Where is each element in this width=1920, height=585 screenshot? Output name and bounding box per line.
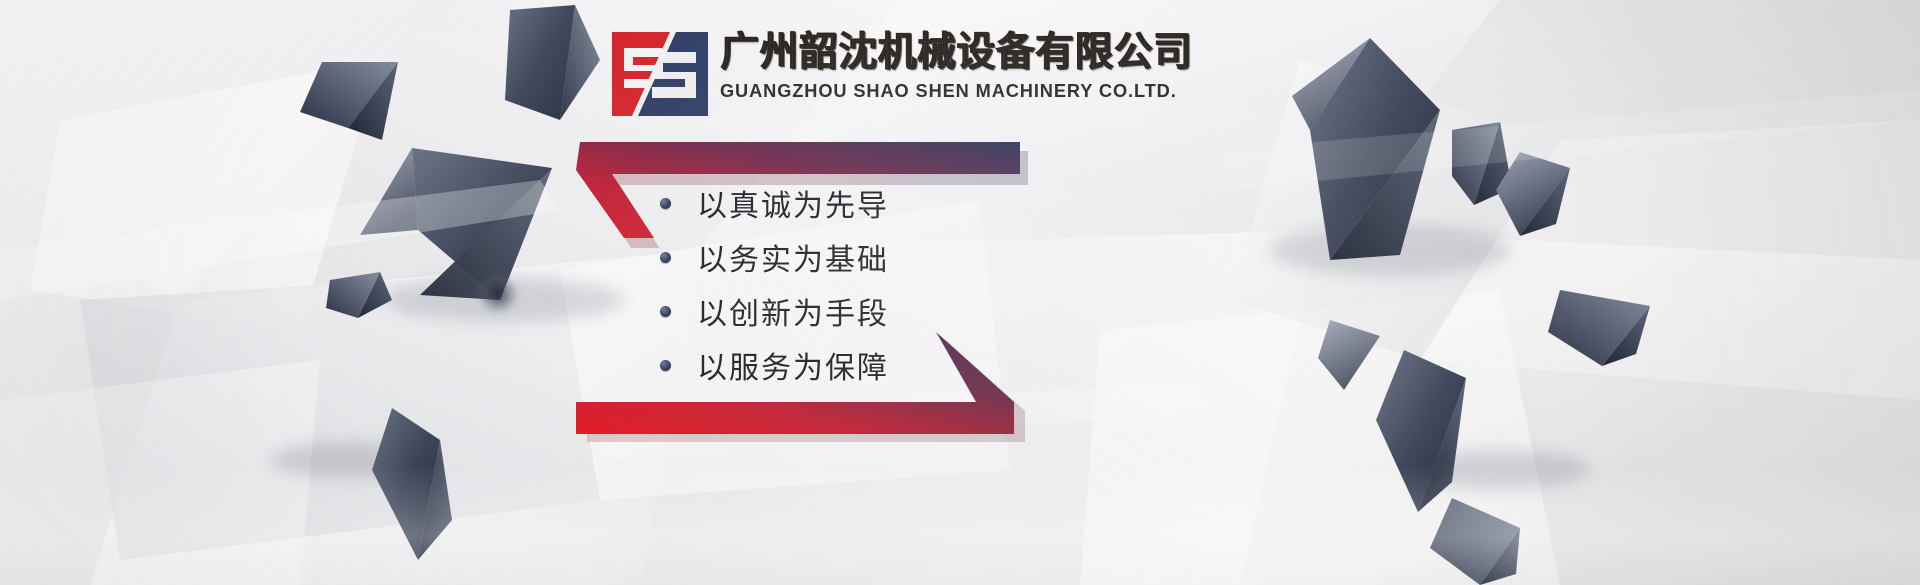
shao-shen-double-s-logo-icon [612, 32, 708, 116]
list-item: 以创新为手段 [660, 284, 990, 338]
bullet-icon [660, 306, 671, 317]
company-name-english: GUANGZHOU SHAO SHEN MACHINERY CO.LTD. [720, 80, 1205, 102]
bullet-icon [660, 360, 671, 371]
logo-block: 广州韶沈机械设备有限公司 GUANGZHOU SHAO SHEN MACHINE… [612, 30, 1212, 116]
list-item: 以服务为保障 [660, 338, 990, 392]
blur-dot [476, 272, 520, 316]
bullet-icon [660, 198, 671, 209]
list-item: 以真诚为先导 [660, 176, 990, 230]
slogan-text: 以务实为基础 [697, 235, 889, 279]
company-name-chinese: 广州韶沈机械设备有限公司 [720, 31, 1192, 73]
slogan-text: 以真诚为先导 [697, 181, 889, 225]
list-item: 以务实为基础 [660, 230, 990, 284]
slogan-list: 以真诚为先导 以务实为基础 以创新为手段 以服务为保障 [660, 176, 990, 392]
logo-text-group: 广州韶沈机械设备有限公司 GUANGZHOU SHAO SHEN MACHINE… [720, 30, 1212, 102]
bullet-icon [660, 252, 671, 263]
company-banner: 广州韶沈机械设备有限公司 GUANGZHOU SHAO SHEN MACHINE… [0, 0, 1920, 585]
slogan-text: 以创新为手段 [697, 289, 889, 333]
slogan-text: 以服务为保障 [697, 343, 889, 387]
